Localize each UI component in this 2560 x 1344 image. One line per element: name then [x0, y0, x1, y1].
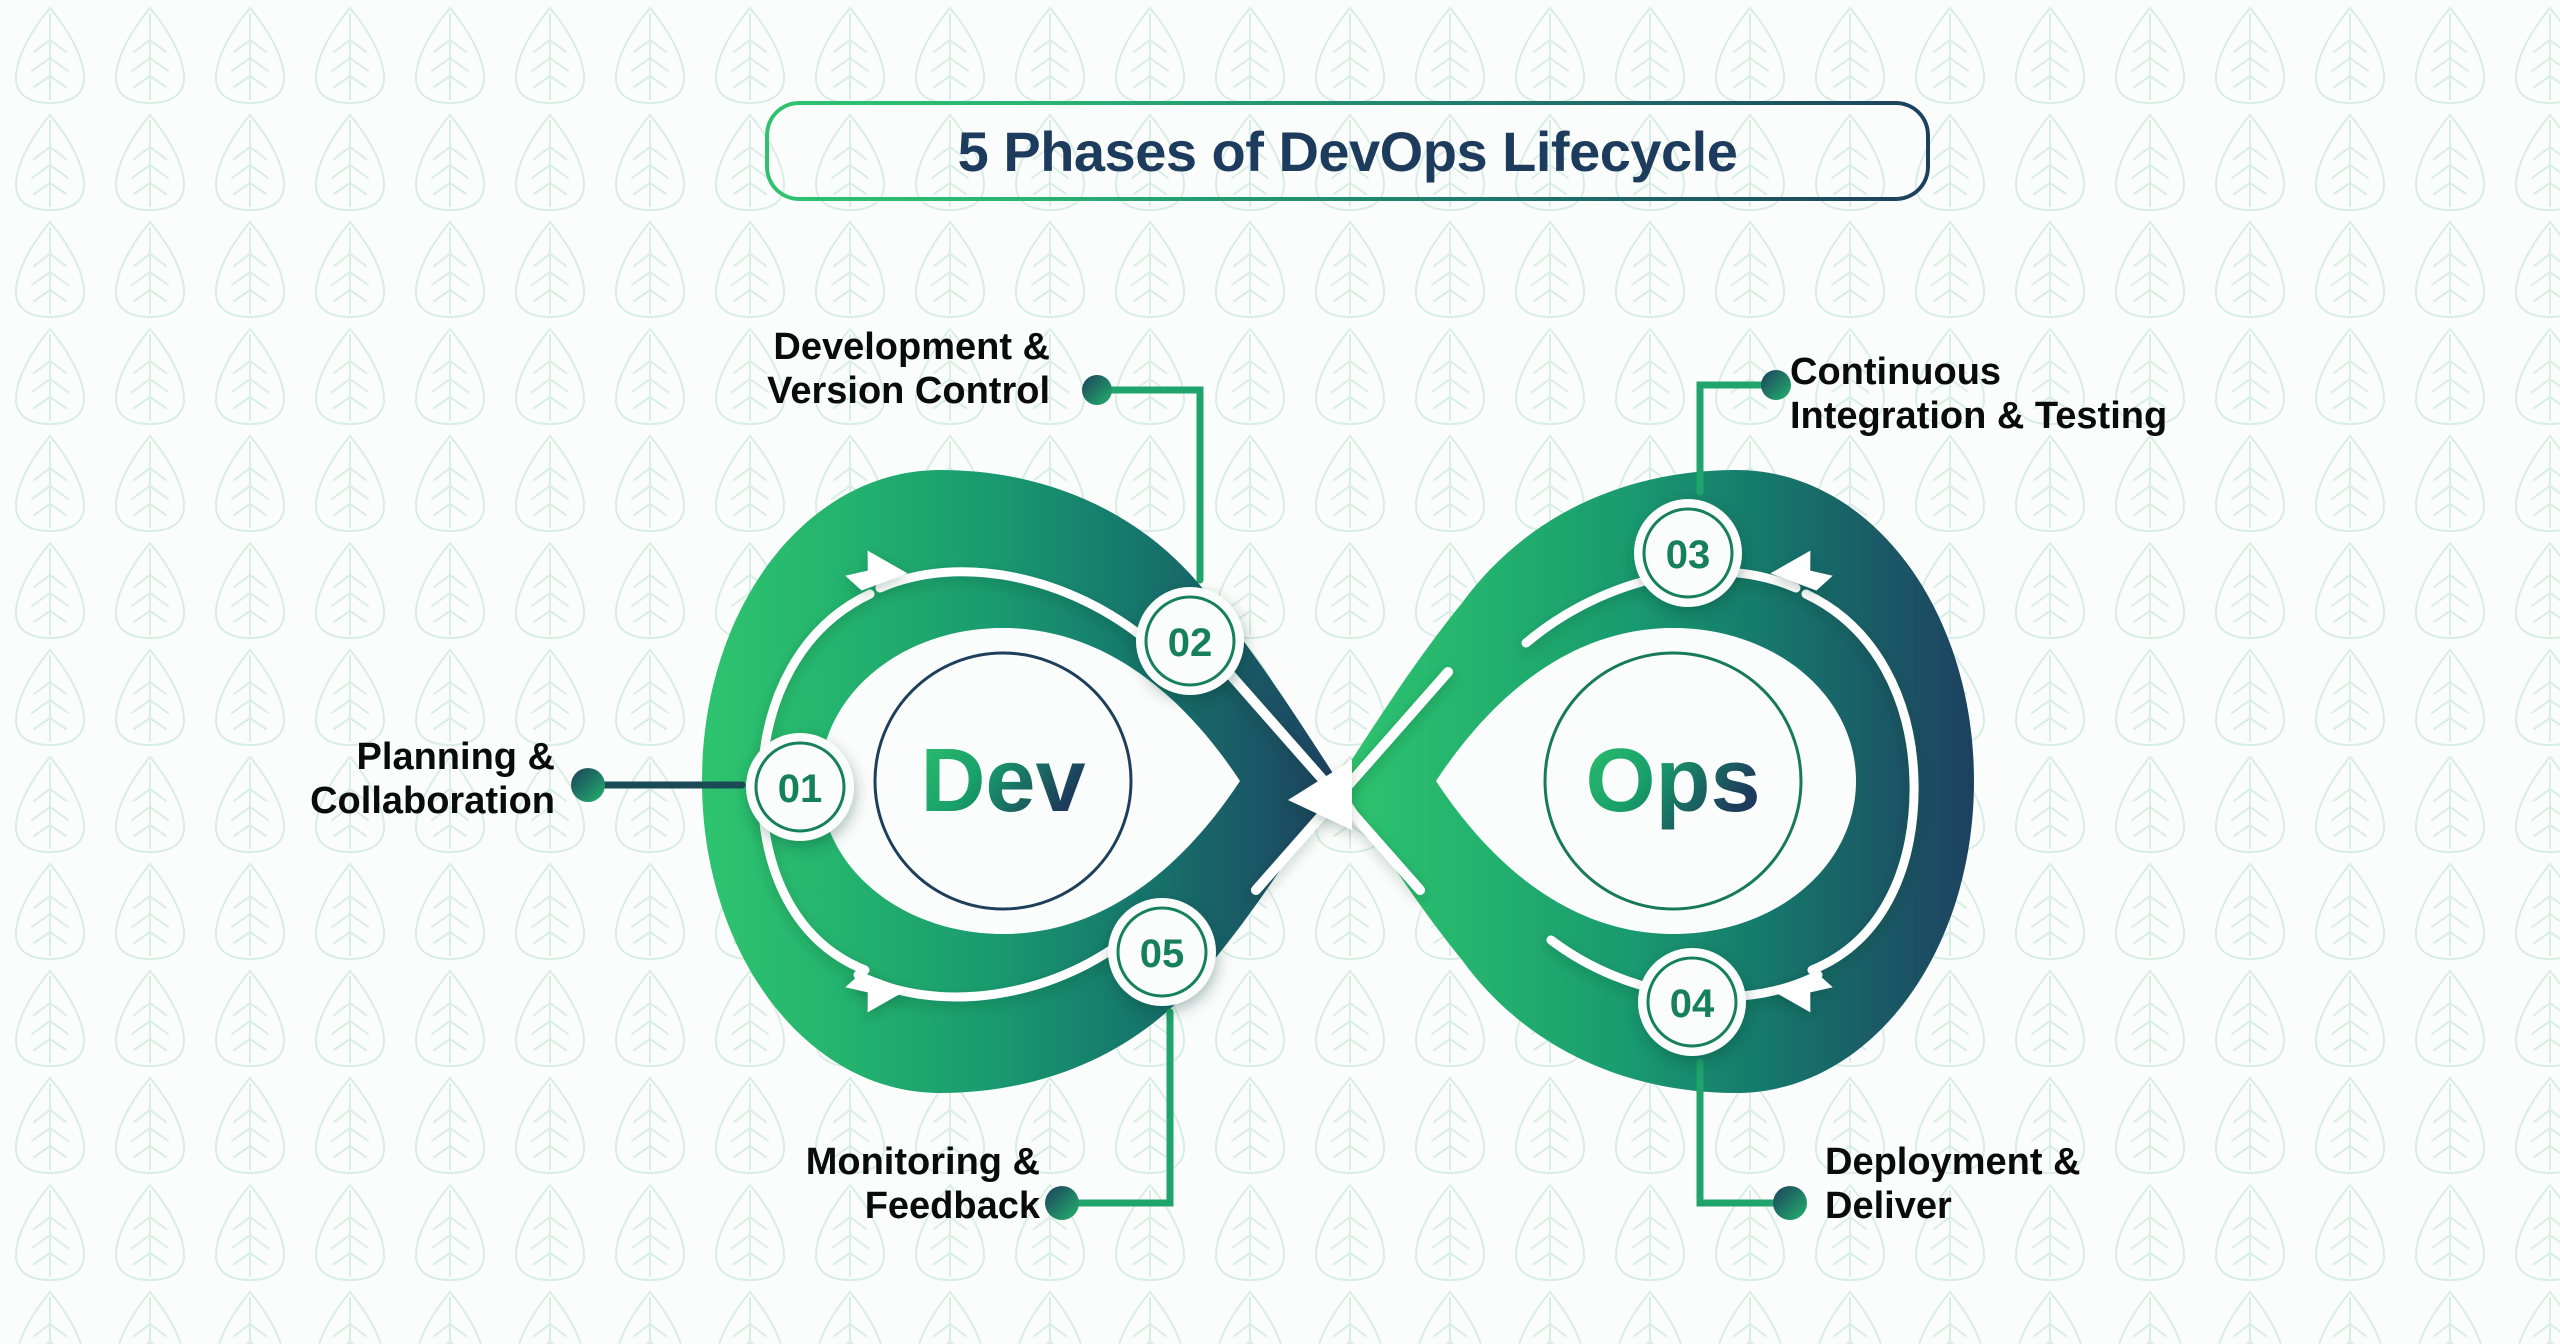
phase-badge-04[interactable]: 04 [1638, 948, 1746, 1056]
ops-label: Ops [1585, 731, 1760, 831]
phase-badge-05[interactable]: 05 [1108, 898, 1216, 1006]
phase-badge-03[interactable]: 03 [1634, 499, 1742, 607]
phase-number-05: 05 [1140, 932, 1185, 976]
callout-dot-04 [1773, 1186, 1807, 1220]
phase-label-deployment: Deployment & Deliver [1825, 1140, 2465, 1228]
phase-label-planning: Planning & Collaboration [180, 735, 555, 823]
phase-number-02: 02 [1168, 621, 1213, 665]
phase-label-development: Development & Version Control [400, 325, 1050, 413]
dev-label: Dev [920, 731, 1085, 831]
ops-center-node: Ops [1520, 628, 1826, 934]
page-title-box: 5 Phases of DevOps Lifecycle [765, 101, 1930, 201]
dev-center-node: Dev [850, 628, 1156, 934]
phase-badge-02[interactable]: 02 [1136, 587, 1244, 695]
callout-dot-01 [571, 768, 605, 802]
callout-dot-03 [1761, 370, 1791, 400]
phase-number-01: 01 [778, 767, 823, 811]
page-title: 5 Phases of DevOps Lifecycle [958, 119, 1738, 184]
callout-dot-05 [1045, 1186, 1079, 1220]
phase-badge-01[interactable]: 01 [746, 733, 854, 841]
phase-label-continuous-integration: Continuous Integration & Testing [1790, 350, 2490, 438]
phase-number-03: 03 [1666, 533, 1711, 577]
phase-number-04: 04 [1670, 982, 1715, 1026]
callout-dot-02 [1082, 375, 1112, 405]
phase-label-monitoring: Monitoring & Feedback [440, 1140, 1040, 1228]
